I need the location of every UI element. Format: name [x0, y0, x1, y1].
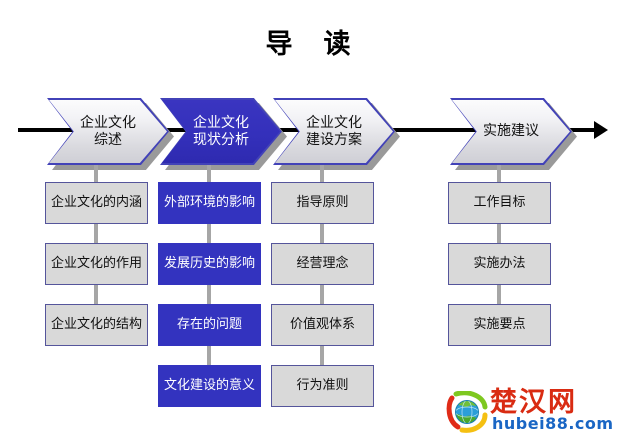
- stage-chevron-status-analysis[interactable]: 企业文化 现状分析: [160, 98, 282, 165]
- stage-item-box[interactable]: 文化建设的意义: [158, 365, 261, 407]
- stage-chevron-overview[interactable]: 企业文化 综述: [47, 98, 169, 165]
- stage-item-box[interactable]: 存在的问题: [158, 304, 261, 346]
- watermark-domain: hubei88.com: [492, 415, 614, 433]
- watermark: 楚汉网 hubei88.com: [446, 391, 614, 433]
- connector-line: [320, 346, 324, 365]
- connector-line: [94, 165, 98, 182]
- stage-item-box[interactable]: 企业文化的内涵: [45, 182, 148, 224]
- page-title: 导 读: [0, 22, 618, 61]
- stage-item-box[interactable]: 实施要点: [448, 304, 551, 346]
- stage-item-box[interactable]: 实施办法: [448, 243, 551, 285]
- stage-chevron-construction-plan[interactable]: 企业文化 建设方案: [273, 98, 395, 165]
- stage-chevron-label: 实施建议: [468, 98, 554, 165]
- connector-line: [207, 224, 211, 243]
- stage-chevron-implementation-advice[interactable]: 实施建议: [450, 98, 572, 165]
- connector-line: [497, 224, 501, 243]
- stage-item-box[interactable]: 发展历史的影响: [158, 243, 261, 285]
- stage-chevron-label: 企业文化 现状分析: [178, 98, 264, 165]
- stage-item-box[interactable]: 企业文化的结构: [45, 304, 148, 346]
- connector-line: [320, 285, 324, 304]
- stage-item-box[interactable]: 行为准则: [271, 365, 374, 407]
- connector-line: [207, 346, 211, 365]
- connector-line: [207, 165, 211, 182]
- connector-line: [497, 165, 501, 182]
- stage-item-box[interactable]: 工作目标: [448, 182, 551, 224]
- stage-item-box[interactable]: 价值观体系: [271, 304, 374, 346]
- stage-chevron-label: 企业文化 建设方案: [291, 98, 377, 165]
- connector-line: [94, 285, 98, 304]
- stage-item-box[interactable]: 经营理念: [271, 243, 374, 285]
- stage-item-box[interactable]: 指导原则: [271, 182, 374, 224]
- connector-line: [320, 224, 324, 243]
- connector-line: [497, 285, 501, 304]
- right-arrow-icon: [594, 121, 608, 139]
- stage-chevron-label: 企业文化 综述: [65, 98, 151, 165]
- connector-line: [207, 285, 211, 304]
- connector-line: [320, 165, 324, 182]
- connector-line: [94, 224, 98, 243]
- diagram-canvas: 导 读 企业文化 综述企业文化的内涵企业文化的作用企业文化的结构企业文化 现状分…: [0, 0, 618, 434]
- globe-swoosh-logo-icon: [446, 391, 488, 433]
- stage-item-box[interactable]: 外部环境的影响: [158, 182, 261, 224]
- stage-item-box[interactable]: 企业文化的作用: [45, 243, 148, 285]
- watermark-brand-cn: 楚汉网: [490, 389, 577, 417]
